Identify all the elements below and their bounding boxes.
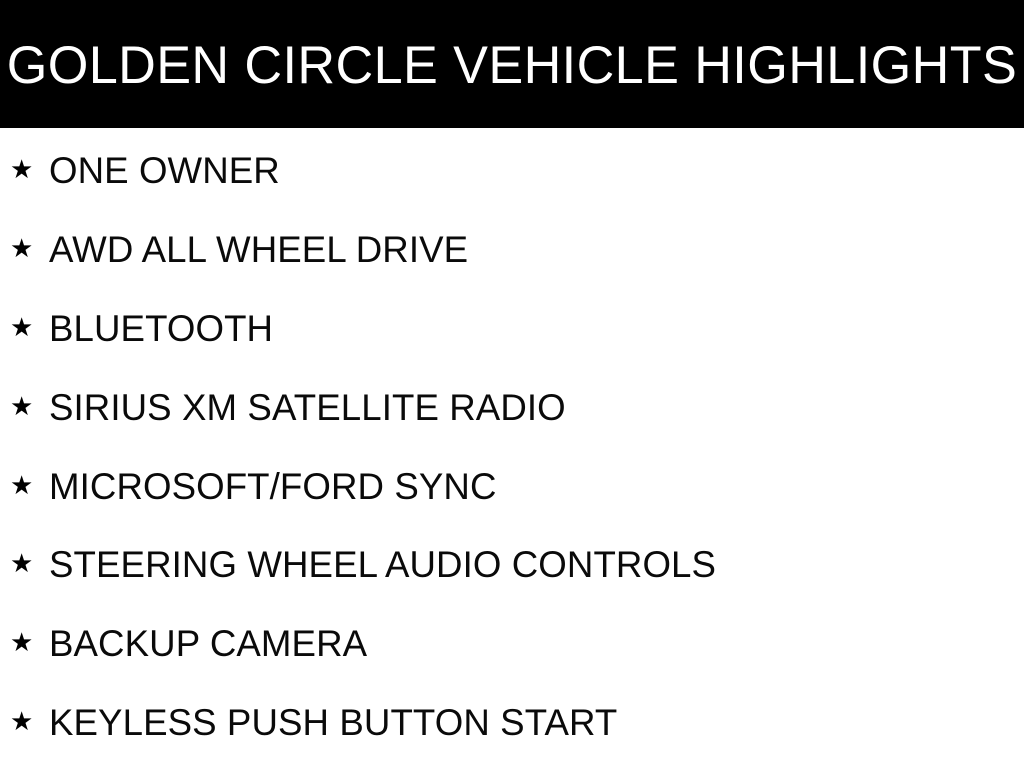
list-item: ★ SIRIUS XM SATELLITE RADIO bbox=[0, 384, 1024, 430]
vehicle-highlights-page: GOLDEN CIRCLE VEHICLE HIGHLIGHTS ★ ONE O… bbox=[0, 0, 1024, 768]
list-item: ★ BLUETOOTH bbox=[0, 305, 1024, 351]
header-banner: GOLDEN CIRCLE VEHICLE HIGHLIGHTS bbox=[0, 0, 1024, 128]
highlights-list: ★ ONE OWNER ★ AWD ALL WHEEL DRIVE ★ BLUE… bbox=[0, 128, 1024, 768]
star-icon: ★ bbox=[10, 551, 38, 577]
star-icon: ★ bbox=[10, 630, 38, 656]
highlight-label: SIRIUS XM SATELLITE RADIO bbox=[49, 389, 566, 426]
list-item: ★ ONE OWNER bbox=[0, 147, 1024, 193]
list-item: ★ AWD ALL WHEEL DRIVE bbox=[0, 226, 1024, 272]
highlight-label: KEYLESS PUSH BUTTON START bbox=[49, 704, 617, 741]
list-item: ★ STEERING WHEEL AUDIO CONTROLS bbox=[0, 541, 1024, 587]
highlight-label: STEERING WHEEL AUDIO CONTROLS bbox=[49, 546, 716, 583]
list-item: ★ KEYLESS PUSH BUTTON START bbox=[0, 699, 1024, 745]
highlight-label: BLUETOOTH bbox=[49, 310, 273, 347]
star-icon: ★ bbox=[10, 473, 38, 499]
highlight-label: AWD ALL WHEEL DRIVE bbox=[49, 231, 468, 268]
star-icon: ★ bbox=[10, 709, 38, 735]
highlight-label: ONE OWNER bbox=[49, 152, 280, 189]
list-item: ★ MICROSOFT/FORD SYNC bbox=[0, 463, 1024, 509]
page-title: GOLDEN CIRCLE VEHICLE HIGHLIGHTS bbox=[7, 39, 1018, 92]
highlight-label: BACKUP CAMERA bbox=[49, 625, 367, 662]
star-icon: ★ bbox=[10, 394, 38, 420]
star-icon: ★ bbox=[10, 236, 38, 262]
highlight-label: MICROSOFT/FORD SYNC bbox=[49, 468, 497, 505]
star-icon: ★ bbox=[10, 157, 38, 183]
list-item: ★ BACKUP CAMERA bbox=[0, 620, 1024, 666]
star-icon: ★ bbox=[10, 315, 38, 341]
